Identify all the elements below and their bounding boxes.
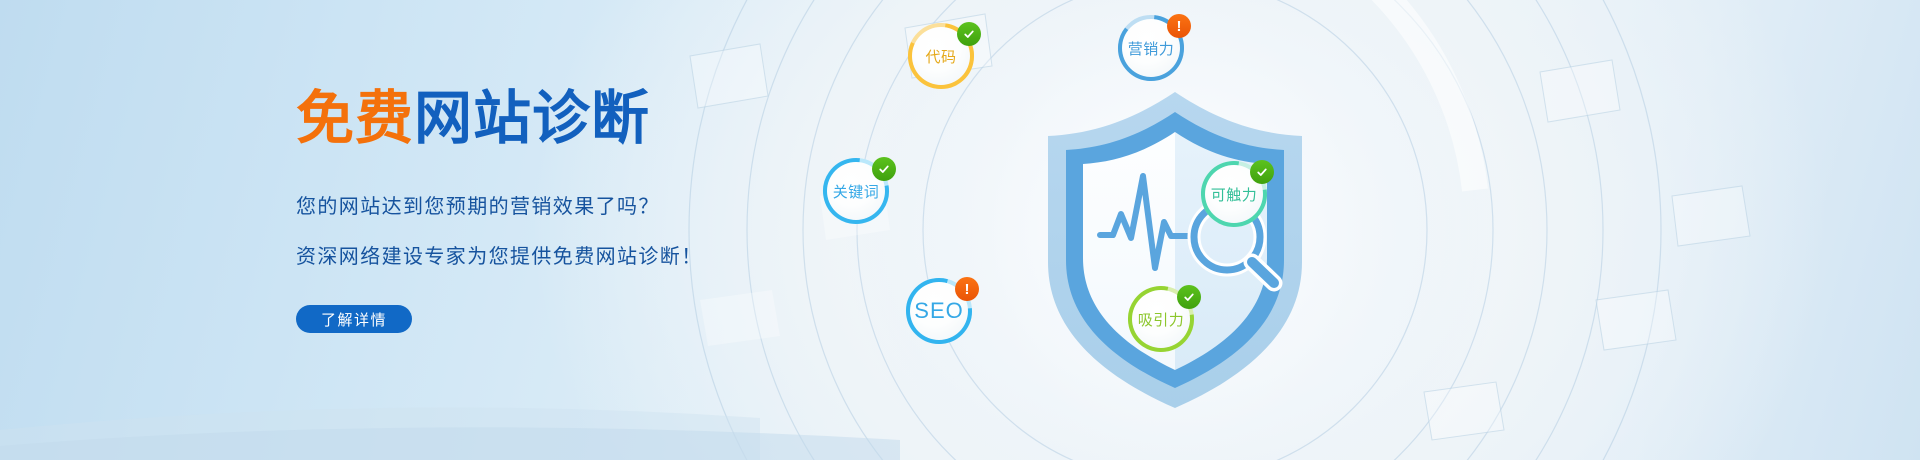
- badge-touchability[interactable]: 可触力: [1198, 158, 1270, 230]
- badge-marketing-power[interactable]: 营销力 !: [1115, 12, 1187, 84]
- status-warning-icon: !: [1167, 14, 1191, 38]
- headline-highlight: 免费: [296, 86, 414, 151]
- badge-code[interactable]: 代码: [905, 20, 977, 92]
- headline-rest: 网站诊断: [414, 86, 650, 151]
- status-ok-icon: [872, 157, 896, 181]
- badge-keyword[interactable]: 关键词: [820, 155, 892, 227]
- status-ok-icon: [957, 22, 981, 46]
- status-warning-icon: !: [955, 277, 979, 301]
- status-ok-icon: [1177, 285, 1201, 309]
- diagnosis-graphic: 代码 营销力 !: [800, 0, 1500, 460]
- status-ok-icon: [1250, 160, 1274, 184]
- learn-more-button[interactable]: 了解详情: [296, 305, 412, 333]
- badge-seo[interactable]: SEO !: [903, 275, 975, 347]
- badge-attractiveness[interactable]: 吸引力: [1125, 283, 1197, 355]
- free-website-diagnosis-banner: 免费网站诊断 您的网站达到您预期的营销效果了吗？ 资深网络建设专家为您提供免费网…: [0, 0, 1920, 460]
